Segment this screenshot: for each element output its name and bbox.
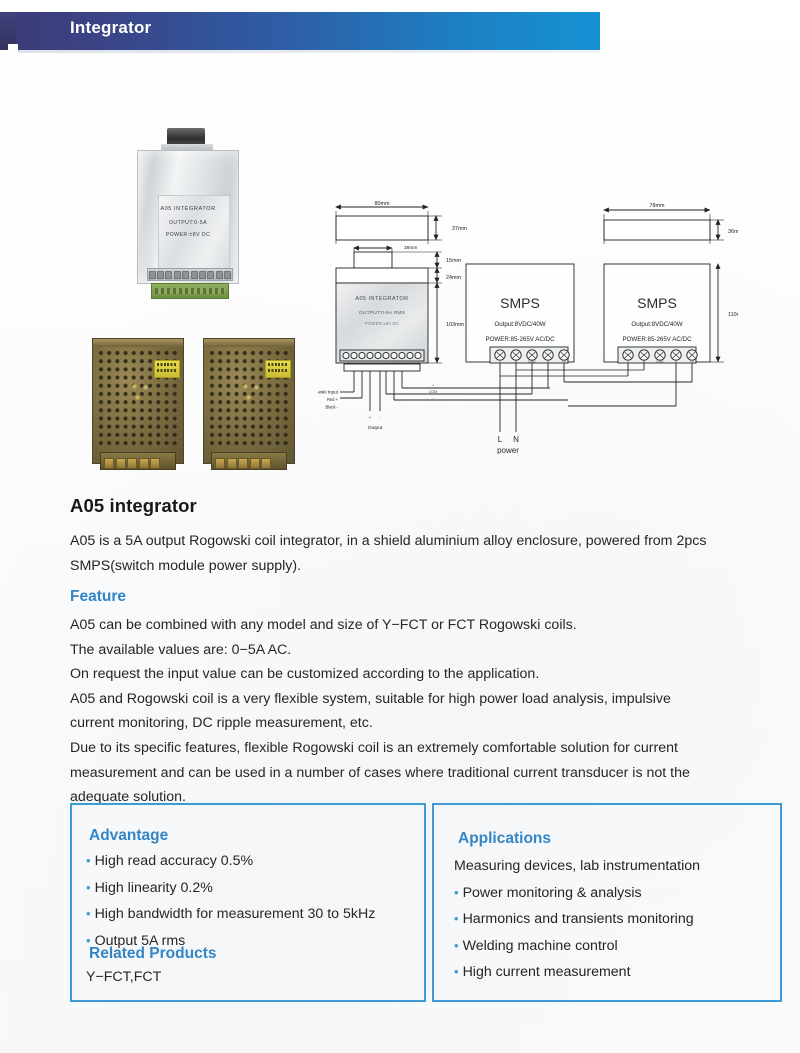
label-mains-power: power <box>497 446 519 454</box>
label-rogowski-input: Rogowski Input <box>318 390 339 395</box>
applications-list: Measuring devices, lab instrumentation •… <box>454 854 770 986</box>
bullet-icon: • <box>454 938 459 953</box>
smps-left-term-gnd: GND <box>528 360 536 364</box>
feature-line: current monitoring, DC ripple measuremen… <box>70 711 782 736</box>
integrator-pcb-edge <box>151 283 229 299</box>
dim-top-width: 80mm <box>375 201 390 207</box>
label-black-minus: Black - <box>325 404 338 409</box>
integrator-photo-label-line3: POWER:±8V DC <box>147 232 229 238</box>
dim-smps-depth: 36mm <box>728 229 738 235</box>
smps-left-terminals <box>104 458 160 467</box>
diagram-smps-left-title: SMPS <box>500 295 540 311</box>
bullet-icon: • <box>454 885 459 900</box>
diagram-integrator-line3: POWER:±8V DC <box>365 321 399 326</box>
diagram-integrator-line1: A05 INTEGRATOR <box>355 296 408 302</box>
bullet-icon: • <box>86 853 91 868</box>
advantage-item-text: High bandwidth for measurement 30 to 5kH… <box>95 906 376 922</box>
banner-corner-notch <box>8 44 18 53</box>
diagram-integrator-line2: OUTPUT:0-5A RMS <box>359 310 406 316</box>
dim-shoulder: 24mm <box>446 275 461 281</box>
feature-line: Due to its specific features, flexible R… <box>70 736 782 761</box>
product-intro-paragraph: A05 is a 5A output Rogowski coil integra… <box>70 529 776 579</box>
application-item-text: Welding machine control <box>463 938 618 954</box>
bullet-icon: • <box>86 880 91 895</box>
smps-right-term-l: L <box>627 360 629 364</box>
smps-right-screws <box>243 384 261 402</box>
integrator-terminal-strip <box>147 268 233 281</box>
application-item-text: Power monitoring & analysis <box>463 885 642 901</box>
page-title: Integrator <box>70 18 151 38</box>
list-item: •High read accuracy 0.5% <box>86 848 414 875</box>
dim-cap-height: 15mm <box>446 258 461 264</box>
feature-paragraph: A05 can be combined with any model and s… <box>70 613 782 810</box>
smps-left-term-l: L <box>499 360 501 364</box>
feature-heading: Feature <box>70 588 126 606</box>
label-output: Output <box>368 425 383 431</box>
applications-box: Applications Measuring devices, lab inst… <box>432 803 782 1002</box>
dim-cap-width: 28mm <box>404 245 417 251</box>
diagram-smps-left-output: Output:8VDC/40W <box>494 321 545 328</box>
list-item: •Harmonics and transients monitoring <box>454 906 770 933</box>
dim-smps-width: 78mm <box>650 203 665 209</box>
integrator-product-photo: A05 INTEGRATOR OUTPUT:0-5A POWER:±8V DC <box>133 128 243 300</box>
bullet-icon: • <box>454 911 459 926</box>
advantage-item-text: High read accuracy 0.5% <box>95 853 254 869</box>
smps-right-terminals <box>215 458 271 467</box>
feature-line: On request the input value can be custom… <box>70 662 782 687</box>
bullet-icon: • <box>86 906 91 921</box>
advantage-list: •High read accuracy 0.5% •High linearity… <box>86 848 414 954</box>
diagram-smps-right-output: Output:8VDC/40W <box>631 321 682 328</box>
label-output-minus: - <box>379 415 381 420</box>
list-item: •High linearity 0.2% <box>86 875 414 902</box>
smps-right-term-posv: +V <box>690 360 695 364</box>
application-item-text: High current measurement <box>463 964 631 980</box>
label-output-plus: + <box>369 415 372 420</box>
related-products-title: Related Products <box>89 945 216 963</box>
advantage-title: Advantage <box>89 827 168 845</box>
advantage-box: Advantage •High read accuracy 0.5% •High… <box>70 803 426 1002</box>
smps-left-top-lip <box>92 338 184 347</box>
list-item: •High current measurement <box>454 959 770 986</box>
list-item: •Welding machine control <box>454 933 770 960</box>
list-item: •Power monitoring & analysis <box>454 880 770 907</box>
smps-right-term-gnd: GND <box>656 360 664 364</box>
applications-title: Applications <box>458 830 551 848</box>
banner-drop-shadow <box>16 50 600 53</box>
label-bus-plus: + <box>432 383 434 387</box>
label-mains-l: L <box>498 435 503 444</box>
feature-line: A05 and Rogowski coil is a very flexible… <box>70 687 782 712</box>
advantage-item-text: High linearity 0.2% <box>95 880 213 896</box>
smps-photo-right <box>203 338 293 470</box>
related-products-value: Y−FCT,FCT <box>86 969 161 985</box>
dim-top-depth: 37mm <box>452 226 467 232</box>
smps-left-term-posv: +V <box>562 360 567 364</box>
integrator-photo-label-line2: OUTPUT:0-5A <box>147 220 229 226</box>
diagram-smps-right-power: POWER:85-265V AC/DC <box>622 336 692 343</box>
integrator-enclosure <box>137 150 239 284</box>
feature-line: measurement and can be used in a number … <box>70 761 782 786</box>
diagram-smps-left-power: POWER:85-265V AC/DC <box>485 336 555 343</box>
smps-photo-left <box>92 338 182 470</box>
feature-line: The available values are: 0−5A AC. <box>70 638 782 663</box>
technical-wiring-diagram: 80mm 37mm 28mm 15mm 24mm 103mm 78mm 36mm… <box>318 192 738 452</box>
applications-lead: Measuring devices, lab instrumentation <box>454 854 770 880</box>
label-red-plus: Red + <box>327 397 339 402</box>
list-item: •High bandwidth for measurement 30 to 5k… <box>86 901 414 928</box>
dim-smps-height: 110mm <box>728 312 738 318</box>
integrator-photo-label-line1: A05 INTEGRATOR <box>147 206 229 212</box>
smps-left-sticker <box>154 360 180 378</box>
label-mains-n: N <box>513 435 519 444</box>
dim-body-height: 103mm <box>446 322 464 328</box>
smps-left-screws <box>132 384 150 402</box>
label-bus-com: COM <box>429 390 437 394</box>
feature-line: A05 can be combined with any model and s… <box>70 613 782 638</box>
product-title: A05 integrator <box>70 495 197 517</box>
bullet-icon: • <box>454 964 459 979</box>
smps-right-top-lip <box>203 338 295 347</box>
diagram-smps-right-title: SMPS <box>637 295 677 311</box>
smps-right-sticker <box>265 360 291 378</box>
application-item-text: Harmonics and transients monitoring <box>463 911 694 927</box>
